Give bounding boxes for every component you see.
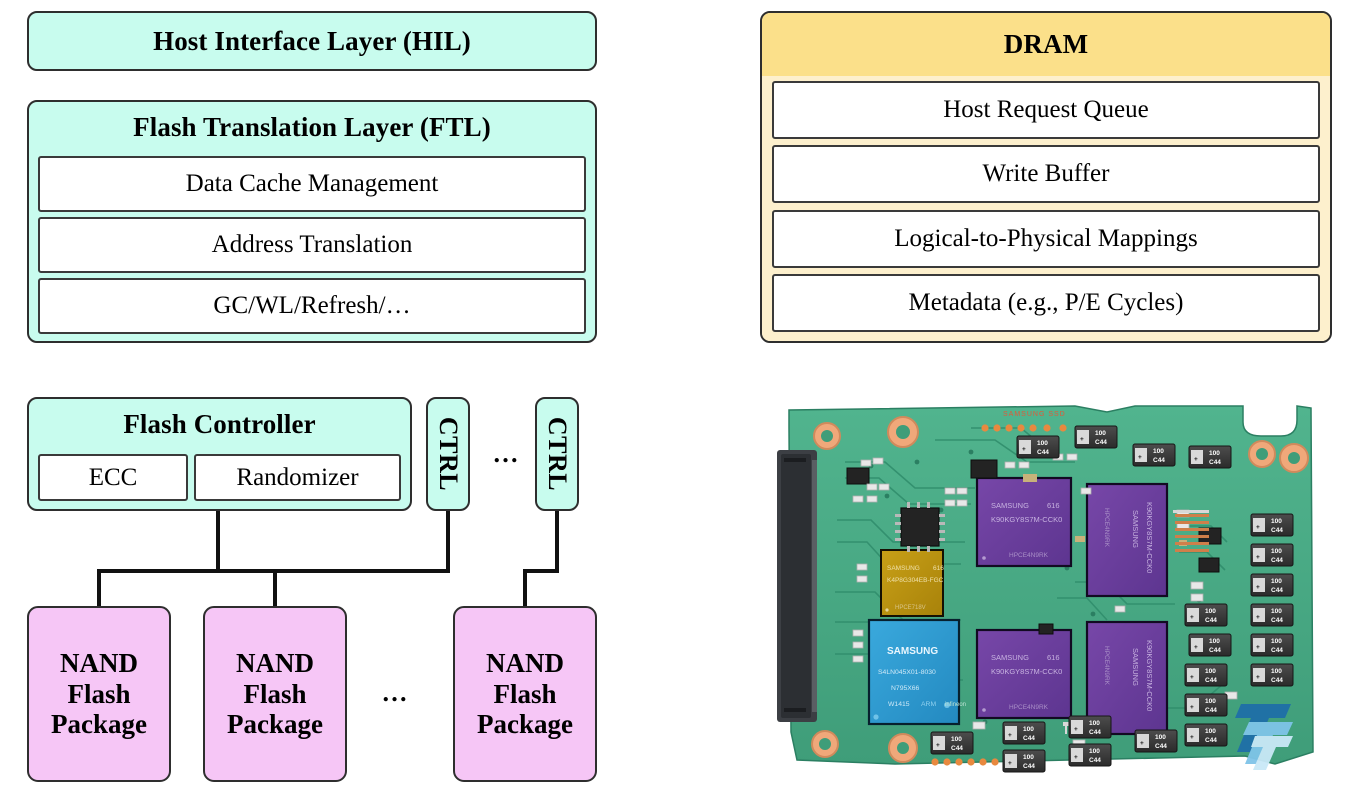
nand-line-1: NAND xyxy=(236,648,314,679)
svg-text:100: 100 xyxy=(1271,668,1282,675)
svg-text:+: + xyxy=(1074,726,1078,733)
svg-text:+: + xyxy=(1256,554,1260,561)
svg-text:616: 616 xyxy=(1047,653,1060,662)
svg-text:C44: C44 xyxy=(1095,439,1107,446)
wire-ctrln-horizontal xyxy=(523,569,559,573)
svg-text:+: + xyxy=(1256,614,1260,621)
svg-text:100: 100 xyxy=(1205,668,1216,675)
svg-text:SAMSUNG: SAMSUNG xyxy=(991,653,1029,662)
ctrl-label: CTRL xyxy=(433,417,463,491)
svg-text:N795X66: N795X66 xyxy=(891,685,920,692)
pcb-edge-connector xyxy=(777,450,817,722)
ecc-module: ECC xyxy=(38,454,188,501)
svg-text:C44: C44 xyxy=(1153,457,1165,464)
svg-text:100: 100 xyxy=(1095,430,1106,437)
flash-controller-box: Flash Controller ECC Randomizer xyxy=(27,397,412,511)
svg-text:C44: C44 xyxy=(1271,647,1283,654)
wire-nand1-drop xyxy=(97,569,101,609)
svg-text:+: + xyxy=(1190,614,1194,621)
svg-text:C44: C44 xyxy=(1209,459,1221,466)
svg-text:+: + xyxy=(1190,674,1194,681)
svg-text:100: 100 xyxy=(1023,726,1034,733)
svg-text:C44: C44 xyxy=(1271,677,1283,684)
svg-text:C44: C44 xyxy=(1155,743,1167,750)
svg-text:+: + xyxy=(1194,644,1198,651)
wire-fc-to-nand1-horizontal xyxy=(97,569,220,573)
pcb-illustration: SAMSUNG 616 K90KGY8S7M-CCK0 HPCE4N9RK SA… xyxy=(775,392,1320,790)
svg-text:SAMSUNG: SAMSUNG xyxy=(887,565,920,572)
svg-text:616: 616 xyxy=(1047,501,1060,510)
host-interface-layer-box: Host Interface Layer (HIL) xyxy=(27,11,597,71)
dram-label: DRAM xyxy=(762,13,1330,76)
channel-controller-n: CTRL xyxy=(535,397,579,511)
ftl-label: Flash Translation Layer (FTL) xyxy=(29,102,595,152)
svg-text:100: 100 xyxy=(1271,638,1282,645)
svg-text:SAMSUNG: SAMSUNG xyxy=(991,501,1029,510)
svg-text:+: + xyxy=(1140,740,1144,747)
svg-text:C44: C44 xyxy=(951,745,963,752)
svg-text:C44: C44 xyxy=(1271,617,1283,624)
svg-text:+: + xyxy=(936,742,940,749)
flash-controller-modules: ECC Randomizer xyxy=(29,449,410,509)
svg-text:C44: C44 xyxy=(1209,647,1221,654)
svg-text:C44: C44 xyxy=(1089,729,1101,736)
nand-line-2: Flash xyxy=(493,679,556,710)
channel-controller-1: CTRL xyxy=(426,397,470,511)
ctrl-ellipsis: … xyxy=(482,441,530,467)
wire-fc-drop xyxy=(216,511,220,573)
nand-line-2: Flash xyxy=(243,679,306,710)
nand-line-1: NAND xyxy=(486,648,564,679)
svg-text:100: 100 xyxy=(1089,720,1100,727)
dram-items: Host Request Queue Write Buffer Logical-… xyxy=(762,76,1330,341)
pcb-chip-nand-3: SAMSUNG 616 K90KGY8S7M-CCK0 HPCE4N9RK xyxy=(977,630,1071,718)
svg-text:100: 100 xyxy=(1271,578,1282,585)
wire-nand3-drop xyxy=(523,569,527,609)
nand-flash-package-1: NAND Flash Package xyxy=(27,606,171,782)
svg-text:100: 100 xyxy=(1153,448,1164,455)
wire-nand2-drop xyxy=(273,569,277,609)
svg-text:HPCE4N9RK: HPCE4N9RK xyxy=(1009,552,1049,559)
dram-item-host-request-queue: Host Request Queue xyxy=(772,81,1320,139)
nand-flash-package-2: NAND Flash Package xyxy=(203,606,347,782)
pcb-chip-dram: SAMSUNG 616 K4P8G304EB-FGC HPCE718V xyxy=(881,550,944,616)
svg-text:+: + xyxy=(1256,524,1260,531)
svg-text:C44: C44 xyxy=(1271,557,1283,564)
randomizer-module: Randomizer xyxy=(194,454,401,501)
svg-text:C44: C44 xyxy=(1023,763,1035,770)
svg-text:SAMSUNG: SAMSUNG xyxy=(887,646,938,657)
svg-text:C44: C44 xyxy=(1271,587,1283,594)
svg-text:HPCE4N9RK: HPCE4N9RK xyxy=(1103,646,1110,686)
flash-controller-label: Flash Controller xyxy=(29,399,410,449)
svg-text:C44: C44 xyxy=(1205,737,1217,744)
svg-text:K90KGY8S7M-CCK0: K90KGY8S7M-CCK0 xyxy=(991,515,1062,524)
nand-flash-package-n: NAND Flash Package xyxy=(453,606,597,782)
dram-item-metadata: Metadata (e.g., P/E Cycles) xyxy=(772,274,1320,332)
svg-text:100: 100 xyxy=(1037,440,1048,447)
svg-text:+: + xyxy=(1080,436,1084,443)
svg-text:C44: C44 xyxy=(1271,527,1283,534)
dram-box: DRAM Host Request Queue Write Buffer Log… xyxy=(760,11,1332,343)
svg-text:100: 100 xyxy=(1205,728,1216,735)
nand-line-3: Package xyxy=(227,709,323,740)
svg-text:100: 100 xyxy=(1271,608,1282,615)
ftl-item-address-translation: Address Translation xyxy=(38,217,586,273)
svg-text:100: 100 xyxy=(1209,638,1220,645)
wire-ctrln-drop xyxy=(555,511,559,573)
svg-text:HPCE4N9RK: HPCE4N9RK xyxy=(1009,704,1049,711)
nand-line-3: Package xyxy=(51,709,147,740)
svg-text:S4LN045X01-8030: S4LN045X01-8030 xyxy=(878,669,936,676)
svg-text:100: 100 xyxy=(1205,698,1216,705)
svg-text:K4P8G304EB-FGC: K4P8G304EB-FGC xyxy=(887,577,944,584)
svg-text:100: 100 xyxy=(1271,518,1282,525)
wire-ctrl1-horizontal xyxy=(277,569,450,573)
ftl-items: Data Cache Management Address Translatio… xyxy=(29,152,595,342)
svg-text:+: + xyxy=(1256,644,1260,651)
svg-text:+: + xyxy=(1074,754,1078,761)
svg-text:+: + xyxy=(1008,760,1012,767)
svg-text:100: 100 xyxy=(1271,548,1282,555)
pcb-chip-nand-2: SAMSUNG K90KGY8S7M-CCK0 HPCE4N9RK xyxy=(1087,484,1167,596)
wire-fc-to-nand2-horizontal xyxy=(216,569,277,573)
svg-text:HPCE4N9RK: HPCE4N9RK xyxy=(1103,508,1110,548)
svg-text:+: + xyxy=(1190,704,1194,711)
ssd-pcb-photo: SAMSUNG 616 K90KGY8S7M-CCK0 HPCE4N9RK SA… xyxy=(775,392,1320,790)
svg-text:C44: C44 xyxy=(1037,449,1049,456)
pcb-chip-controller: SAMSUNG S4LN045X01-8030 N795X66 W1415 AR… xyxy=(869,620,959,724)
svg-text:+: + xyxy=(1256,674,1260,681)
nand-line-3: Package xyxy=(477,709,573,740)
svg-text:+: + xyxy=(1190,734,1194,741)
svg-text:C44: C44 xyxy=(1205,707,1217,714)
ftl-item-data-cache-management: Data Cache Management xyxy=(38,156,586,212)
svg-text:C44: C44 xyxy=(1205,677,1217,684)
pcb-chip-nand-1: SAMSUNG 616 K90KGY8S7M-CCK0 HPCE4N9RK xyxy=(977,478,1071,566)
svg-text:SAMSUNG: SAMSUNG xyxy=(1131,510,1140,548)
svg-text:W1415: W1415 xyxy=(888,701,910,708)
svg-text:HPCE718V: HPCE718V xyxy=(895,605,926,611)
ftl-item-gc-wl-refresh: GC/WL/Refresh/… xyxy=(38,278,586,334)
svg-text:K90KGY8S7M-CCK0: K90KGY8S7M-CCK0 xyxy=(1145,640,1154,711)
svg-text:K90KGY8S7M-CCK0: K90KGY8S7M-CCK0 xyxy=(991,667,1062,676)
svg-text:C44: C44 xyxy=(1205,617,1217,624)
svg-text:ARM: ARM xyxy=(921,701,936,708)
svg-text:+: + xyxy=(1022,446,1026,453)
svg-text:100: 100 xyxy=(1023,754,1034,761)
flash-translation-layer-box: Flash Translation Layer (FTL) Data Cache… xyxy=(27,100,597,343)
svg-text:C44: C44 xyxy=(1023,735,1035,742)
svg-text:infineon: infineon xyxy=(945,702,966,708)
nand-line-2: Flash xyxy=(67,679,130,710)
svg-text:K90KGY8S7M-CCK0: K90KGY8S7M-CCK0 xyxy=(1145,502,1154,573)
svg-text:+: + xyxy=(1138,454,1142,461)
svg-text:616: 616 xyxy=(933,565,944,572)
nand-line-1: NAND xyxy=(60,648,138,679)
ssd-architecture-diagram: Host Interface Layer (HIL) Flash Transla… xyxy=(0,0,1359,805)
svg-text:100: 100 xyxy=(951,736,962,743)
dram-item-logical-to-physical-mappings: Logical-to-Physical Mappings xyxy=(772,210,1320,268)
ctrl-label: CTRL xyxy=(542,417,572,491)
svg-text:+: + xyxy=(1194,456,1198,463)
svg-text:SAMSUNG: SAMSUNG xyxy=(1131,648,1140,686)
wire-ctrl1-drop xyxy=(446,511,450,573)
nand-ellipsis: … xyxy=(355,680,435,706)
svg-text:100: 100 xyxy=(1089,748,1100,755)
svg-text:+: + xyxy=(1008,732,1012,739)
svg-text:100: 100 xyxy=(1205,608,1216,615)
svg-text:+: + xyxy=(1256,584,1260,591)
svg-text:100: 100 xyxy=(1209,450,1220,457)
svg-text:100: 100 xyxy=(1155,734,1166,741)
hil-label: Host Interface Layer (HIL) xyxy=(29,13,595,69)
dram-item-write-buffer: Write Buffer xyxy=(772,145,1320,203)
svg-text:SAMSUNG SSD: SAMSUNG SSD xyxy=(1003,411,1066,418)
svg-text:C44: C44 xyxy=(1089,757,1101,764)
